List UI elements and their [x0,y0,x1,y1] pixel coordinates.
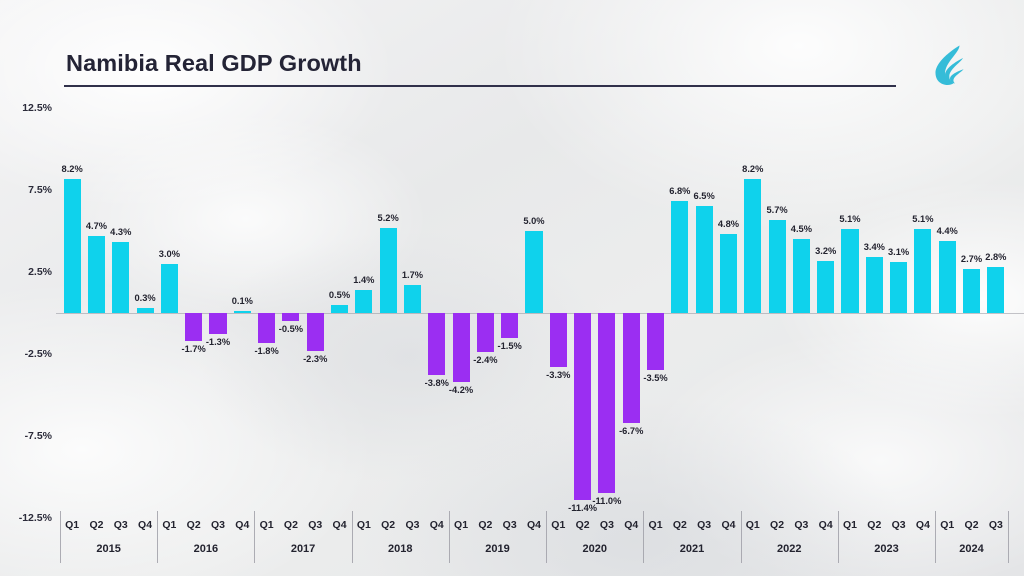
year-separator-tick [352,511,353,563]
year-separator-tick [546,511,547,563]
x-axis-quarter-label: Q2 [284,519,298,531]
x-axis-quarter-label: Q1 [357,519,371,531]
x-axis-quarter-label: Q4 [430,519,444,531]
x-axis-quarter-label: Q1 [843,519,857,531]
x-axis-quarter-label: Q4 [235,519,249,531]
x-axis-quarter-label: Q4 [916,519,930,531]
year-separator-tick [741,511,742,563]
year-separator-tick [157,511,158,563]
year-separator-tick [643,511,644,563]
x-axis-quarter-label: Q3 [503,519,517,531]
x-axis-quarter-label: Q1 [649,519,663,531]
x-axis-quarter-label: Q3 [405,519,419,531]
x-axis: Q1Q2Q3Q4Q1Q2Q3Q4Q1Q2Q3Q4Q1Q2Q3Q4Q1Q2Q3Q4… [0,0,1024,576]
x-axis-quarter-label: Q1 [162,519,176,531]
x-axis-quarter-label: Q2 [187,519,201,531]
x-axis-quarter-label: Q2 [478,519,492,531]
x-axis-quarter-label: Q3 [892,519,906,531]
x-axis-year-label: 2019 [485,543,509,555]
x-axis-quarter-label: Q1 [940,519,954,531]
x-axis-quarter-label: Q3 [697,519,711,531]
x-axis-quarter-label: Q1 [260,519,274,531]
x-axis-year-label: 2023 [874,543,898,555]
x-axis-quarter-label: Q4 [819,519,833,531]
x-axis-quarter-label: Q2 [867,519,881,531]
x-axis-quarter-label: Q2 [770,519,784,531]
chart-page: Namibia Real GDP Growth 12.5%7.5%2.5%-2.… [0,0,1024,576]
x-axis-year-label: 2016 [194,543,218,555]
x-axis-quarter-label: Q2 [576,519,590,531]
year-separator-tick [60,511,61,563]
x-axis-quarter-label: Q3 [600,519,614,531]
x-axis-quarter-label: Q3 [211,519,225,531]
x-axis-quarter-label: Q3 [794,519,808,531]
x-axis-year-label: 2018 [388,543,412,555]
x-axis-quarter-label: Q2 [381,519,395,531]
x-axis-year-label: 2020 [583,543,607,555]
x-axis-quarter-label: Q1 [454,519,468,531]
x-axis-quarter-label: Q4 [527,519,541,531]
x-axis-year-label: 2015 [96,543,120,555]
x-axis-quarter-label: Q1 [65,519,79,531]
x-axis-quarter-label: Q4 [138,519,152,531]
x-axis-quarter-label: Q4 [721,519,735,531]
x-axis-year-label: 2017 [291,543,315,555]
x-axis-quarter-label: Q1 [551,519,565,531]
bar-chart: 12.5%7.5%2.5%-2.5%-7.5%-12.5% 8.2%4.7%4.… [0,0,1024,576]
x-axis-year-label: 2024 [959,543,983,555]
x-axis-quarter-label: Q1 [746,519,760,531]
x-axis-quarter-label: Q2 [673,519,687,531]
x-axis-quarter-label: Q3 [308,519,322,531]
year-separator-tick [449,511,450,563]
year-separator-tick [935,511,936,563]
year-separator-tick [838,511,839,563]
x-axis-quarter-label: Q3 [114,519,128,531]
x-axis-quarter-label: Q4 [624,519,638,531]
x-axis-quarter-label: Q2 [89,519,103,531]
x-axis-year-label: 2022 [777,543,801,555]
x-axis-quarter-label: Q3 [989,519,1003,531]
x-axis-year-label: 2021 [680,543,704,555]
year-separator-tick [254,511,255,563]
year-separator-tick [1008,511,1009,563]
x-axis-quarter-label: Q2 [965,519,979,531]
x-axis-quarter-label: Q4 [333,519,347,531]
